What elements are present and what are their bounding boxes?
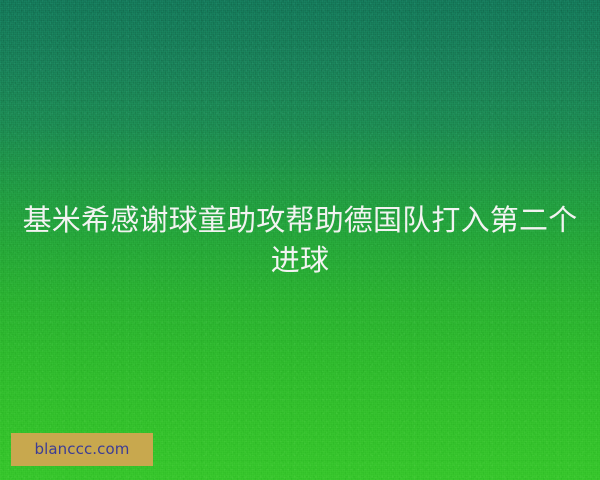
watermark-label: blanccc.com bbox=[34, 442, 129, 457]
image-canvas: 基米希感谢球童助攻帮助德国队打入第二个进球 blanccc.com bbox=[0, 0, 600, 480]
headline-text: 基米希感谢球童助攻帮助德国队打入第二个进球 bbox=[22, 200, 578, 280]
watermark-badge: blanccc.com bbox=[11, 433, 153, 466]
